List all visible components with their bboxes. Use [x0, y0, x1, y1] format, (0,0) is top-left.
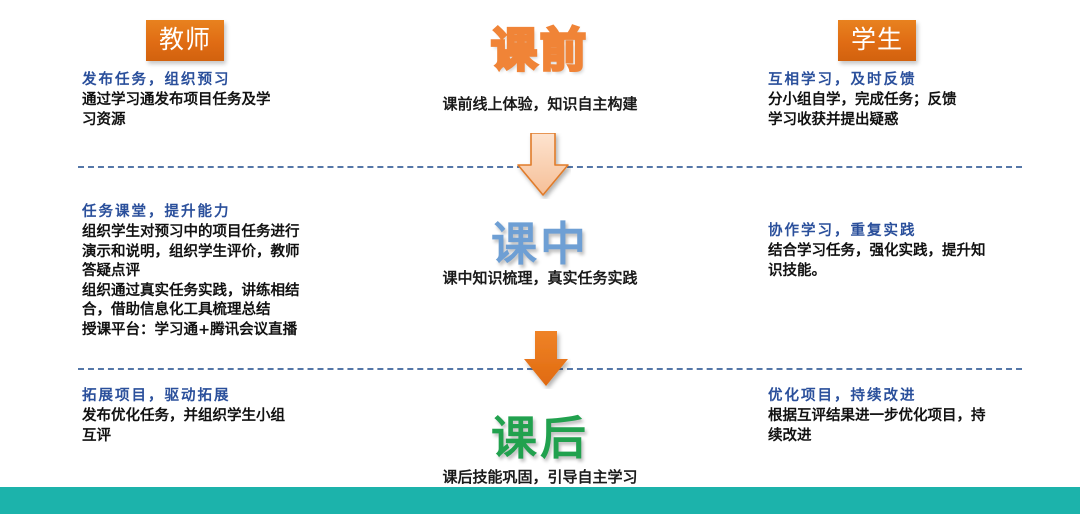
slide-canvas: 教师 学生 课前 课前线上体验，知识自主构建 发布任务，组织预习 通过学习通发布… — [0, 0, 1080, 514]
block-body: 组织学生对预习中的项目任务进行 演示和说明，组织学生评价，教师 答疑点评 组织通… — [82, 223, 352, 340]
text-block-during-teacher: 任务课堂，提升能力 组织学生对预习中的项目任务进行 演示和说明，组织学生评价，教… — [82, 202, 352, 340]
phase-subtitle-during-class: 课中知识梳理，真实任务实践 — [330, 267, 750, 288]
phase-title-after-class: 课后 — [390, 402, 690, 468]
down-arrow-light-icon — [515, 133, 571, 204]
phase-subtitle-before-class: 课前线上体验，知识自主构建 — [330, 93, 750, 114]
body-line: 根据互评结果进一步优化项目，持 — [768, 407, 1038, 427]
body-line: 互评 — [82, 427, 352, 447]
text-block-after-student: 优化项目，持续改进 根据互评结果进一步优化项目，持 续改进 — [768, 386, 1038, 446]
role-badge-teacher: 教师 — [146, 20, 224, 61]
body-line: 结合学习任务，强化实践，提升知 — [768, 242, 1038, 262]
body-line: 分小组自学，完成任务；反馈 — [768, 91, 1038, 111]
body-line: 授课平台：学习通+腾讯会议直播 — [82, 321, 352, 341]
role-badge-student: 学生 — [838, 20, 916, 61]
phase-title-before-class: 课前 — [390, 14, 690, 80]
block-heading: 协作学习，重复实践 — [768, 221, 1038, 241]
block-heading: 发布任务，组织预习 — [82, 70, 352, 90]
block-heading: 任务课堂，提升能力 — [82, 202, 352, 222]
body-line: 学习收获并提出疑惑 — [768, 111, 1038, 131]
phase-title-during-class: 课中 — [390, 208, 690, 274]
block-body: 结合学习任务，强化实践，提升知 识技能。 — [768, 242, 1038, 281]
body-line: 演示和说明，组织学生评价，教师 — [82, 243, 352, 263]
block-body: 发布优化任务，并组织学生小组 互评 — [82, 407, 352, 446]
block-heading: 互相学习，及时反馈 — [768, 70, 1038, 90]
block-body: 分小组自学，完成任务；反馈 学习收获并提出疑惑 — [768, 91, 1038, 130]
block-heading: 拓展项目，驱动拓展 — [82, 386, 352, 406]
body-line: 通过学习通发布项目任务及学 — [82, 91, 352, 111]
body-line: 续改进 — [768, 427, 1038, 447]
body-line: 识技能。 — [768, 262, 1038, 282]
down-arrow-solid-icon — [521, 331, 571, 394]
body-line: 组织学生对预习中的项目任务进行 — [82, 223, 352, 243]
block-body: 根据互评结果进一步优化项目，持 续改进 — [768, 407, 1038, 446]
block-body: 通过学习通发布项目任务及学 习资源 — [82, 91, 352, 130]
text-block-during-student: 协作学习，重复实践 结合学习任务，强化实践，提升知 识技能。 — [768, 221, 1038, 281]
text-block-after-teacher: 拓展项目，驱动拓展 发布优化任务，并组织学生小组 互评 — [82, 386, 352, 446]
phase-subtitle-after-class: 课后技能巩固，引导自主学习 — [330, 466, 750, 487]
bottom-accent-bar — [0, 487, 1080, 514]
block-heading: 优化项目，持续改进 — [768, 386, 1038, 406]
body-line: 习资源 — [82, 111, 352, 131]
text-block-before-student: 互相学习，及时反馈 分小组自学，完成任务；反馈 学习收获并提出疑惑 — [768, 70, 1038, 130]
body-line: 发布优化任务，并组织学生小组 — [82, 407, 352, 427]
body-line: 组织通过真实任务实践，讲练相结 — [82, 282, 352, 302]
body-line: 合，借助信息化工具梳理总结 — [82, 301, 352, 321]
body-line: 答疑点评 — [82, 262, 352, 282]
text-block-before-teacher: 发布任务，组织预习 通过学习通发布项目任务及学 习资源 — [82, 70, 352, 130]
